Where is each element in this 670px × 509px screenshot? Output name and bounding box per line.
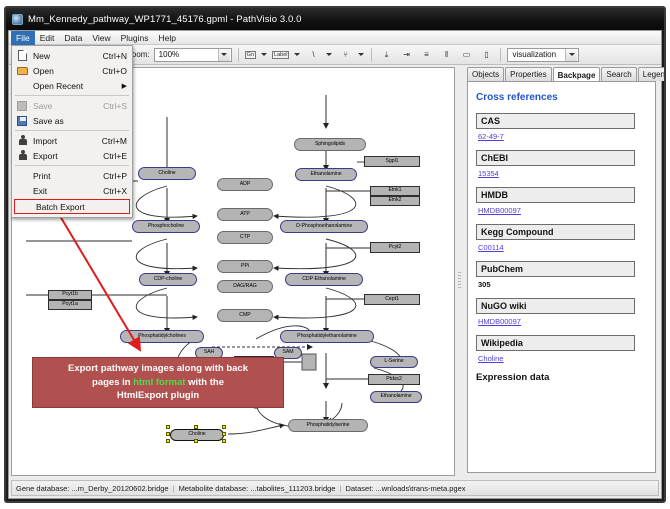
annotation-callout: Export pathway images along with back pa… (32, 357, 284, 408)
pathvisio-app-icon (12, 14, 23, 25)
align-top-tool-icon[interactable]: ⤓ (378, 47, 394, 63)
tab-search[interactable]: Search (601, 67, 636, 81)
save-as-icon (14, 114, 30, 127)
interaction-dropdown-icon[interactable] (357, 48, 365, 62)
tab-properties[interactable]: Properties (505, 67, 551, 81)
node-phosphatidylserine[interactable]: Phosphatidylserine (288, 419, 368, 432)
status-dataset: Dataset: ...wnloads\trans-meta.pgex (345, 484, 465, 493)
chevron-down-icon (218, 49, 230, 61)
gene-cept1[interactable]: Cept1 (364, 294, 420, 305)
menu-item-open-accel: Ctrl+O (102, 66, 132, 76)
gene-etnk2[interactable]: Etnk2 (370, 196, 420, 206)
export-icon (14, 149, 30, 162)
xref-link-cas[interactable]: 62-49-7 (478, 132, 647, 141)
menu-item-open[interactable]: Open Ctrl+O (12, 63, 132, 78)
menu-item-save: Save Ctrl+S (12, 98, 132, 113)
node-sphingolipids[interactable]: Sphingolipids (294, 138, 366, 151)
menu-divider-3 (15, 165, 129, 166)
menu-item-batch-export[interactable]: Batch Export (14, 199, 130, 214)
gene-ptdss2[interactable]: Ptdss2 (368, 374, 420, 385)
blank-icon-2 (14, 169, 30, 182)
menu-view[interactable]: View (87, 31, 115, 45)
file-menu-dropdown[interactable]: New Ctrl+N Open Ctrl+O Open Recent ▶ Sav… (11, 45, 133, 218)
menu-item-save-label: Save (30, 101, 103, 111)
menu-item-new[interactable]: New Ctrl+N (12, 48, 132, 63)
status-separator-1: | (169, 484, 179, 493)
node-cdp-ethanolamine[interactable]: CDP-Ethanolamine (285, 273, 363, 286)
menu-help[interactable]: Help (154, 31, 181, 45)
xref-value-pubchem: 305 (478, 280, 647, 289)
visualization-combo[interactable]: visualization (507, 48, 579, 62)
blank-icon (14, 79, 30, 92)
label-dropdown-icon[interactable] (293, 48, 301, 62)
application-window: Mm_Kennedy_pathway_WP1771_45176.gpml - P… (4, 6, 666, 503)
open-folder-icon (14, 64, 30, 77)
node-atp[interactable]: ATP (217, 208, 273, 221)
node-ppi[interactable]: PPi (217, 260, 273, 273)
align-left-tool-icon[interactable]: ⇥ (398, 47, 414, 63)
node-phosphatidylethanolamine[interactable]: Phosphatidylethanolamine (280, 330, 374, 343)
node-o-phosphoethanolamine[interactable]: O-Phosphoethanolamine (280, 220, 368, 233)
chevron-down-icon-2 (565, 49, 577, 61)
menu-item-open-recent-label: Open Recent (30, 81, 122, 91)
annotation-line2-post: with the (185, 377, 224, 388)
tab-legend[interactable]: Legend (638, 67, 666, 81)
menu-item-import[interactable]: Import Ctrl+M (12, 133, 132, 148)
menu-item-print[interactable]: Print Ctrl+P (12, 168, 132, 183)
blank-icon-4 (17, 200, 33, 213)
cross-references-title: Cross references (476, 92, 647, 103)
title-bar: Mm_Kennedy_pathway_WP1771_45176.gpml - P… (6, 8, 664, 30)
menu-item-save-as[interactable]: Save as (12, 113, 132, 128)
gene-sgpl1[interactable]: Sgpl1 (364, 156, 420, 167)
gene-pcyt1a[interactable]: Pcyt1a (48, 300, 92, 310)
new-document-icon (14, 49, 30, 62)
tab-objects[interactable]: Objects (467, 67, 504, 81)
line-dropdown-icon[interactable] (325, 48, 333, 62)
xref-source-wikipedia: Wikipedia (476, 335, 635, 351)
panel-splitter[interactable] (457, 67, 462, 476)
menu-divider-1 (15, 95, 129, 96)
menu-item-save-as-label: Save as (30, 116, 127, 126)
zoom-value: 100% (159, 50, 218, 59)
gene-etnk1[interactable]: Etnk1 (370, 186, 420, 196)
save-icon (14, 99, 30, 112)
xref-source-chebi: ChEBI (476, 150, 635, 166)
handle-sw[interactable] (166, 439, 170, 443)
window-title: Mm_Kennedy_pathway_WP1771_45176.gpml - P… (28, 14, 302, 25)
node-phosphocholine[interactable]: Phosphocholine (132, 220, 200, 233)
menu-item-print-accel: Ctrl+P (103, 171, 132, 181)
node-dag-rag[interactable]: DAG/RAG (217, 280, 273, 293)
common-width-tool-icon[interactable]: ▭ (458, 47, 474, 63)
node-cmp[interactable]: CMP (217, 309, 273, 322)
node-l-serine[interactable]: L-Serine (370, 356, 418, 368)
menu-item-batch-export-label: Batch Export (33, 202, 129, 212)
stack-center-tool-icon[interactable]: ≡ (418, 47, 434, 63)
node-cdp-choline[interactable]: CDP-choline (139, 273, 197, 286)
distribute-tool-icon[interactable]: ‖ (438, 47, 454, 63)
selected-node-group[interactable]: Choline (170, 429, 224, 441)
side-panel-tabs: Objects Properties Backpage Search Legen… (464, 67, 659, 81)
xref-link-hmdb[interactable]: HMDB00097 (478, 206, 647, 215)
menu-item-export-label: Export (30, 151, 103, 161)
xref-link-chebi[interactable]: 15354 (478, 169, 647, 178)
handle-w[interactable] (166, 432, 170, 436)
menu-file[interactable]: File (11, 31, 35, 45)
xref-source-nugo-wiki: NuGO wiki (476, 298, 635, 314)
menu-item-new-label: New (30, 51, 103, 61)
blank-icon-3 (14, 184, 30, 197)
interaction-tool-icon[interactable]: ⑂ (337, 47, 353, 63)
gene-product-dropdown-icon[interactable] (260, 48, 268, 62)
xref-link-kegg-compound[interactable]: C00114 (478, 243, 647, 252)
status-separator-2: | (335, 484, 345, 493)
menu-plugins[interactable]: Plugins (116, 31, 154, 45)
xref-link-nugo-wiki[interactable]: HMDB00097 (478, 317, 647, 326)
handle-n[interactable] (194, 425, 198, 429)
status-bar: Gene database: ...m_Derby_20120602.bridg… (11, 480, 659, 496)
xref-source-cas: CAS (476, 113, 635, 129)
chevron-right-icon: ▶ (122, 82, 132, 90)
menu-item-new-accel: Ctrl+N (103, 51, 132, 61)
node-phosphatidylcholines[interactable]: Phosphatidylcholines (120, 330, 204, 343)
toolbar-separator (238, 48, 239, 62)
annotation-highlight: html format (133, 377, 185, 388)
xref-source-hmdb: HMDB (476, 187, 635, 203)
reaction-node-box (302, 354, 316, 370)
menu-item-print-label: Print (30, 171, 103, 181)
xref-source-kegg-compound: Kegg Compound (476, 224, 635, 240)
gene-pcyt1b[interactable]: Pcyt1b (48, 290, 92, 300)
annotation-line-2: pages in html format with the (39, 376, 277, 390)
line-tool-icon[interactable]: \ (305, 47, 321, 63)
zoom-combo[interactable]: 100% (154, 48, 232, 62)
xref-link-wikipedia[interactable]: Choline (478, 354, 647, 363)
menu-item-export-accel: Ctrl+E (103, 151, 132, 161)
menu-item-exit[interactable]: Exit Ctrl+X (12, 183, 132, 198)
menu-divider-2 (15, 130, 129, 131)
gene-product-tool-icon[interactable]: Gn (245, 51, 256, 59)
annotation-line-1: Export pathway images along with back (39, 362, 277, 376)
menu-bar: File Edit Data View Plugins Help (9, 31, 661, 45)
handle-nw[interactable] (166, 425, 170, 429)
status-metabolite-database: Metabolite database: ...tabolites_111203… (179, 484, 336, 493)
menu-item-export[interactable]: Export Ctrl+E (12, 148, 132, 163)
handle-e[interactable] (222, 432, 226, 436)
node-choline[interactable]: Choline (138, 167, 196, 180)
node-adp[interactable]: ADP (217, 178, 273, 191)
xref-source-pubchem: PubChem (476, 261, 635, 277)
client-area: File Edit Data View Plugins Help Zoom: 1… (8, 30, 662, 499)
node-ethanolamine[interactable]: Ethanolamine (295, 168, 357, 181)
node-ethanolamine-2[interactable]: Ethanolamine (370, 391, 422, 403)
handle-ne[interactable] (222, 425, 226, 429)
menu-item-import-label: Import (30, 136, 102, 146)
handle-se[interactable] (222, 439, 226, 443)
status-gene-database: Gene database: ...m_Derby_20120602.bridg… (16, 484, 169, 493)
visualization-value: visualization (512, 50, 565, 59)
menu-item-open-label: Open (30, 66, 102, 76)
toolbar-separator-2 (371, 48, 372, 62)
menu-item-import-accel: Ctrl+M (102, 136, 132, 146)
side-panel: Objects Properties Backpage Search Legen… (464, 67, 659, 476)
gene-pcyt2[interactable]: Pcyt2 (370, 242, 420, 253)
backpage-content: Cross references CAS 62-49-7 ChEBI 15354… (467, 81, 656, 473)
menu-item-save-accel: Ctrl+S (103, 101, 132, 111)
menu-data[interactable]: Data (59, 31, 87, 45)
node-ctp[interactable]: CTP (217, 231, 273, 244)
annotation-line-3: HtmlExport plugin (39, 389, 277, 403)
menu-item-exit-label: Exit (30, 186, 103, 196)
common-height-tool-icon[interactable]: ▯ (478, 47, 494, 63)
import-icon (14, 134, 30, 147)
handle-s[interactable] (194, 439, 198, 443)
menu-item-open-recent[interactable]: Open Recent ▶ (12, 78, 132, 93)
toolbar-separator-3 (500, 48, 501, 62)
expression-data-title: Expression data (476, 372, 647, 383)
tab-backpage[interactable]: Backpage (553, 67, 601, 82)
annotation-line2-pre: pages in (92, 377, 133, 388)
label-tool-icon[interactable]: Label (272, 51, 289, 59)
menu-item-exit-accel: Ctrl+X (103, 186, 132, 196)
menu-edit[interactable]: Edit (35, 31, 60, 45)
